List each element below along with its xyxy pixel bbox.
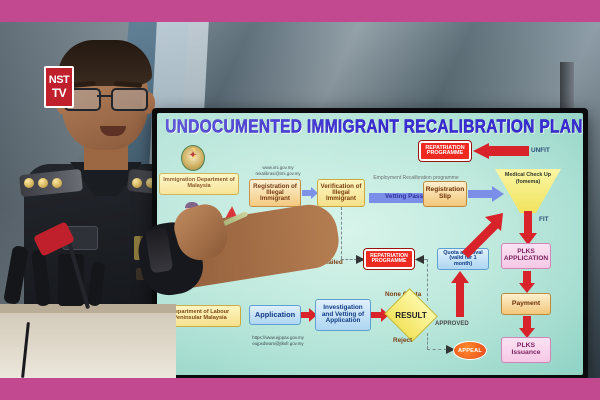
nst-tv-logo-line1: NST — [49, 75, 70, 86]
frame-bottom-bar — [0, 378, 600, 400]
node-application: Application — [249, 305, 301, 325]
label-reject: Reject — [393, 337, 412, 344]
node-plks-application: PLKS APPLICATION — [501, 243, 551, 269]
connector-vetting-failed — [341, 259, 357, 260]
arrow-unfit — [473, 143, 529, 159]
malaysia-emblem-icon: ✦ — [181, 145, 205, 171]
arrow-slip-to-medical — [468, 185, 504, 201]
slide-title: UNDOCUMENTED IMMIGRANT RECALIBRATION PLA… — [165, 117, 583, 138]
node-registration-illegal-immigrant: Registration of Illegal Immigrant — [249, 179, 301, 207]
connector-reject-vertical — [427, 333, 428, 349]
frame-top-bar — [0, 0, 600, 22]
node-repatriation-programme-top: REPATRIATION PROGRAMME — [419, 141, 471, 161]
connector-verification-down — [341, 207, 342, 259]
label-fit: FIT — [539, 216, 549, 223]
node-verification-illegal-immigrant: Verification of Illegal Immigrant — [317, 179, 365, 207]
press-conference-photo: NST TV — [0, 22, 600, 378]
connector-none-quota-horizontal — [424, 259, 428, 260]
node-result-decision: RESULT — [391, 297, 431, 333]
node-appeal: APPEAL — [453, 341, 487, 360]
node-result-label: RESULT — [395, 311, 426, 320]
arrowhead-none-quota — [415, 255, 424, 264]
label-unfit: UNFIT — [531, 147, 550, 154]
label-approved: APPROVED — [435, 321, 469, 327]
node-repatriation-programme-mid: REPATRIATION PROGRAMME — [364, 249, 414, 269]
rank-pips-left — [24, 176, 80, 190]
arrow-quota-to-medical — [457, 209, 503, 255]
labour-url-line1: https://www.ejppax.gov.my — [243, 335, 313, 341]
label-vetting-pass: Vetting Pass — [385, 193, 423, 200]
node-medical-check-up: Medical Check Up (fomema) — [493, 172, 563, 186]
imi-url-line1: www.imi.gov.my — [243, 165, 313, 171]
node-plks-issuance: PLKS Issuance — [501, 337, 551, 363]
arrow-approved-up — [451, 271, 469, 317]
connector-none-quota-vertical — [427, 259, 428, 301]
arrow-plks-to-payment — [519, 271, 535, 293]
arrow-fit-down — [519, 211, 537, 245]
nst-tv-logo-line2: TV — [52, 87, 66, 99]
node-investigation-vetting: Investigation and Vetting of Application — [315, 299, 371, 331]
node-payment: Payment — [501, 293, 551, 315]
node-registration-slip: Registration Slip — [423, 181, 467, 207]
eyeglasses — [64, 88, 148, 108]
labour-url-line2: eujpxdteam@jtksfr.gov.my — [243, 341, 313, 347]
connector-reject-horizontal — [427, 349, 447, 350]
imi-url-line2: rekalibrasi@imi.gov.my — [243, 171, 313, 177]
arrow-registration-to-verification — [302, 187, 318, 199]
nst-tv-logo: NST TV — [44, 66, 74, 108]
broadcast-frame: NST TV — [0, 0, 600, 400]
node-immigration-department: Immigration Department of Malaysia — [159, 173, 239, 195]
arrow-payment-to-issuance — [519, 316, 535, 338]
